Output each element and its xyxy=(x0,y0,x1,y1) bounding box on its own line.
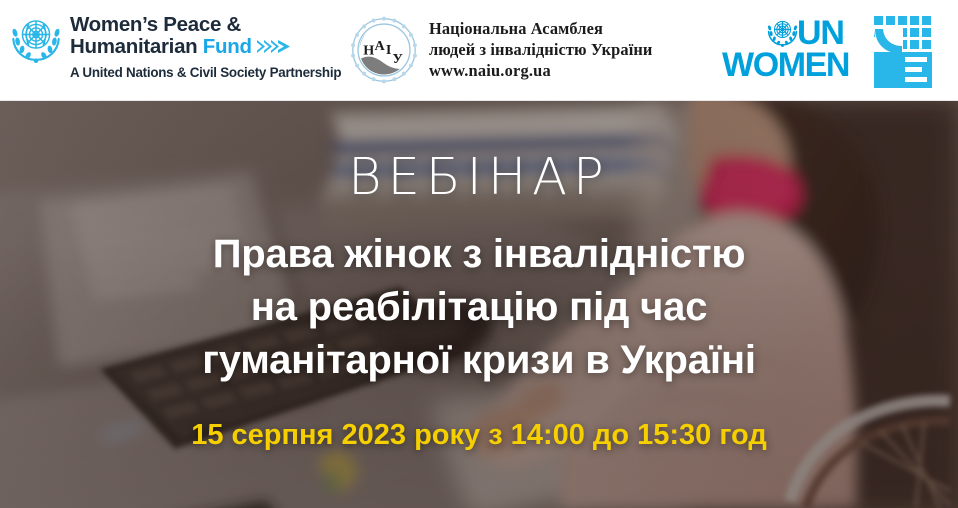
webinar-poster: ВЕБІНАР Права жінок з інвалідністю на ре… xyxy=(0,0,958,508)
svg-text:І: І xyxy=(386,42,392,58)
naiu-circular-emblem-icon: Н А І У xyxy=(350,16,418,84)
logo-womens-peace-humanitarian-fund: Women’s Peace & Humanitarian Fund A Unit… xyxy=(8,6,308,90)
svg-text:Н: Н xyxy=(363,43,374,59)
triple-chevron-icon xyxy=(257,37,291,59)
background-photo xyxy=(0,101,958,508)
wphf-line-2-dark: Humanitarian xyxy=(70,35,203,58)
logo-naiu: Н А І У Національна Асамблея людей з інв… xyxy=(350,10,680,90)
partner-logo-band: Women’s Peace & Humanitarian Fund A Unit… xyxy=(0,0,958,101)
wphf-line-1: Women’s Peace & xyxy=(70,14,341,36)
un-women-grid-mark-icon xyxy=(872,16,934,88)
naiu-line-1: Національна Асамблея xyxy=(429,18,652,39)
un-emblem-icon xyxy=(8,10,64,66)
wphf-tagline: A United Nations & Civil Society Partner… xyxy=(70,65,341,80)
naiu-line-2: людей з інвалідністю України xyxy=(429,39,652,60)
svg-text:А: А xyxy=(375,38,386,54)
wphf-line-2: Humanitarian Fund xyxy=(70,36,341,59)
naiu-url[interactable]: www.naiu.org.ua xyxy=(429,60,652,81)
un-women-line-women: WOMEN xyxy=(722,50,849,81)
wphf-line-2-accent: Fund xyxy=(203,35,252,58)
un-women-line-un: UN xyxy=(797,19,844,48)
un-emblem-icon xyxy=(766,15,799,48)
svg-text:У: У xyxy=(393,51,404,67)
logo-un-women: UN WOMEN xyxy=(722,12,944,88)
